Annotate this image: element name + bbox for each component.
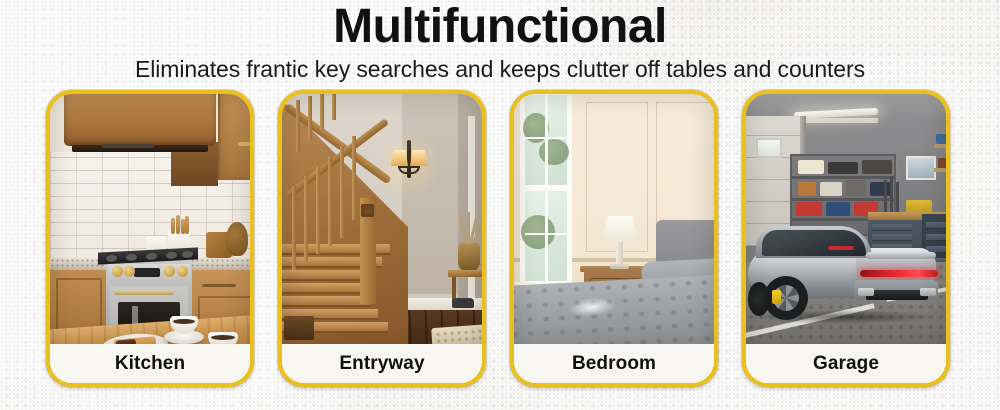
garage-photo (746, 94, 946, 352)
bedroom-photo (514, 94, 714, 352)
feature-card-kitchen[interactable]: Kitchen (46, 90, 254, 387)
card-label-bedroom: Bedroom (514, 344, 714, 383)
feature-card-entryway[interactable]: Entryway (278, 90, 486, 387)
feature-card-row: Kitchen (46, 90, 956, 387)
feature-card-bedroom[interactable]: Bedroom (510, 90, 718, 387)
feature-card-garage[interactable]: Garage (742, 90, 950, 387)
card-label-text: Kitchen (115, 353, 185, 375)
header: Multifunctional Eliminates frantic key s… (0, 0, 1000, 83)
page-subtitle: Eliminates frantic key searches and keep… (0, 56, 1000, 83)
entryway-photo (282, 94, 482, 352)
card-label-entryway: Entryway (282, 344, 482, 383)
kitchen-photo (50, 94, 250, 352)
card-label-text: Garage (813, 353, 879, 375)
card-label-text: Entryway (339, 353, 424, 375)
card-label-kitchen: Kitchen (50, 344, 250, 383)
card-label-garage: Garage (746, 344, 946, 383)
page-title: Multifunctional (0, 3, 1000, 52)
card-label-text: Bedroom (572, 353, 656, 375)
